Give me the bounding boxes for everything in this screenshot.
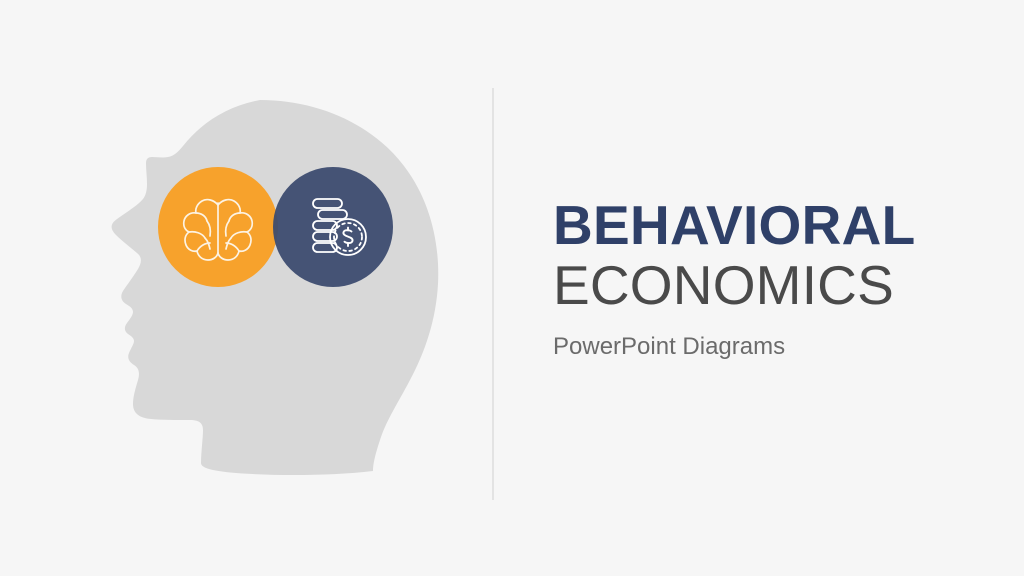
title-slide: BEHAVIORAL ECONOMICS PowerPoint Diagrams <box>0 0 1024 576</box>
page-title-line2: ECONOMICS <box>553 254 993 316</box>
title-text-block: BEHAVIORAL ECONOMICS PowerPoint Diagrams <box>553 196 993 361</box>
subtitle-tagline: PowerPoint Diagrams <box>553 333 993 361</box>
behavioral-economics-graphic <box>0 0 500 576</box>
page-title-line1: BEHAVIORAL <box>553 196 993 254</box>
head-silhouette-shape <box>112 100 439 475</box>
vertical-divider <box>492 88 494 500</box>
